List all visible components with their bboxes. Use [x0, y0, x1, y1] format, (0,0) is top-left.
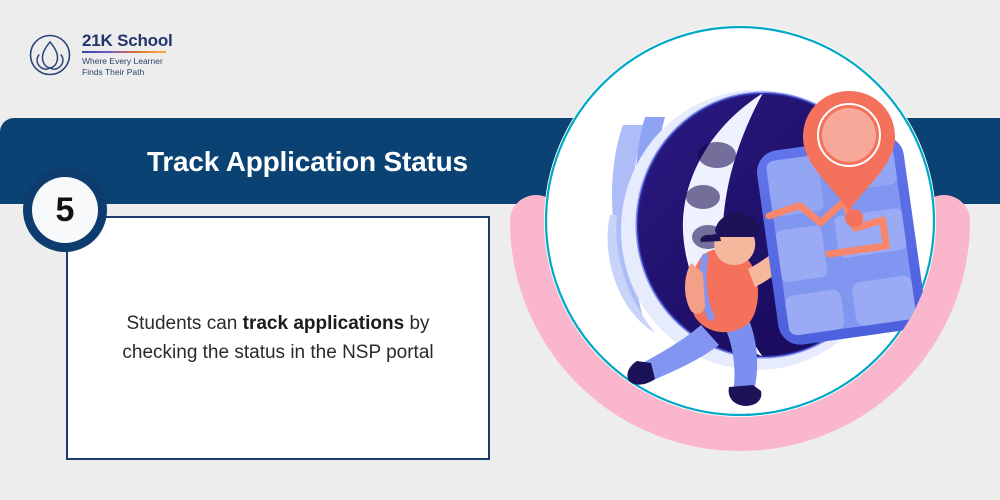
- tracking-illustration: [505, 25, 975, 495]
- logo-name: 21K School: [82, 32, 173, 49]
- slide-canvas: Track Application Status 21K School Wher…: [0, 0, 1000, 500]
- lotus-circle-icon: [28, 33, 72, 77]
- description-bold-phrase: track applications: [243, 313, 405, 334]
- description-card: Students can track applications by check…: [66, 216, 490, 460]
- description-text-part1: Students can: [126, 313, 242, 334]
- logo-tagline-line1: Where Every Learner: [82, 56, 163, 66]
- step-number: 5: [56, 193, 75, 227]
- logo-tagline-line2: Finds Their Path: [82, 67, 144, 77]
- brand-logo[interactable]: 21K School Where Every Learner Finds The…: [28, 32, 173, 77]
- page-title: Track Application Status: [147, 146, 547, 178]
- logo-underline: [82, 51, 166, 53]
- description-text: Students can track applications by check…: [103, 309, 453, 368]
- step-number-badge: 5: [23, 168, 107, 252]
- step-badge-inner: 5: [32, 177, 98, 243]
